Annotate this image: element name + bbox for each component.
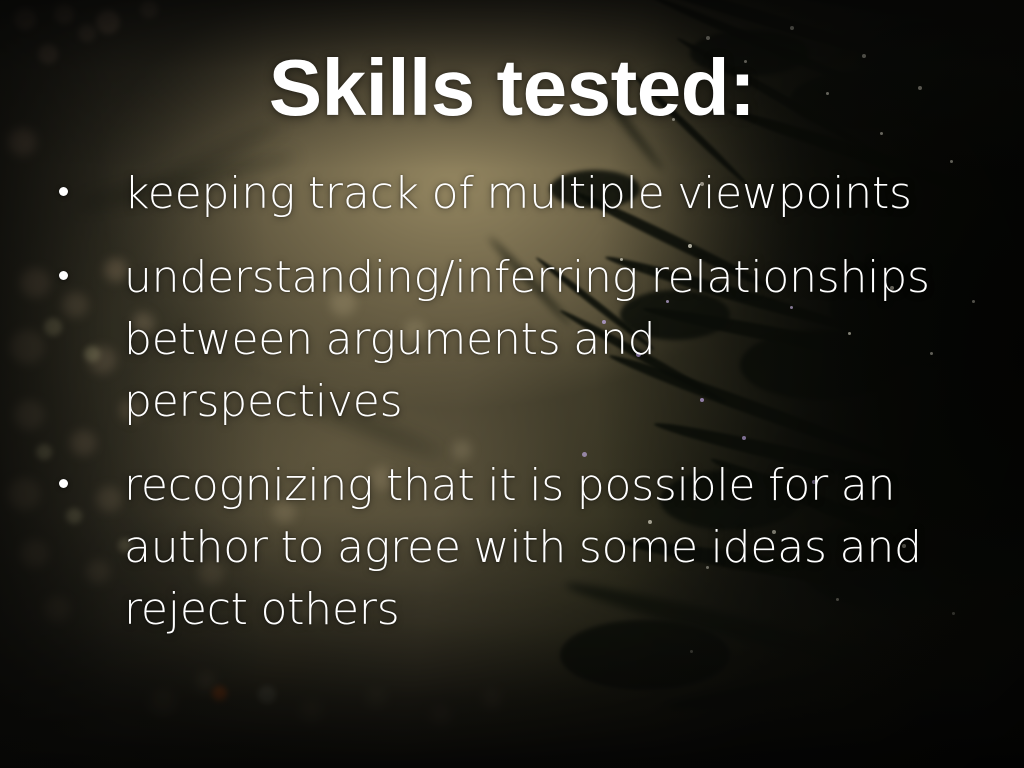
bullet-text: keeping track of multiple viewpoints — [124, 163, 946, 225]
bullet-text: recognizing that it is possible for an a… — [124, 455, 946, 641]
bullet-list: keeping track of multiple viewpoints und… — [46, 163, 946, 641]
list-item: understanding/inferring relationships be… — [46, 247, 946, 433]
list-item: keeping track of multiple viewpoints — [46, 163, 946, 225]
bullet-dot-icon — [59, 479, 68, 488]
bullet-text: understanding/inferring relationships be… — [124, 247, 946, 433]
slide-content: Skills tested: keeping track of multiple… — [0, 0, 1024, 768]
list-item: recognizing that it is possible for an a… — [46, 455, 946, 641]
bullet-dot-icon — [59, 187, 68, 196]
presentation-slide: Skills tested: keeping track of multiple… — [0, 0, 1024, 768]
slide-title: Skills tested: — [0, 46, 1024, 130]
bullet-dot-icon — [59, 271, 68, 280]
